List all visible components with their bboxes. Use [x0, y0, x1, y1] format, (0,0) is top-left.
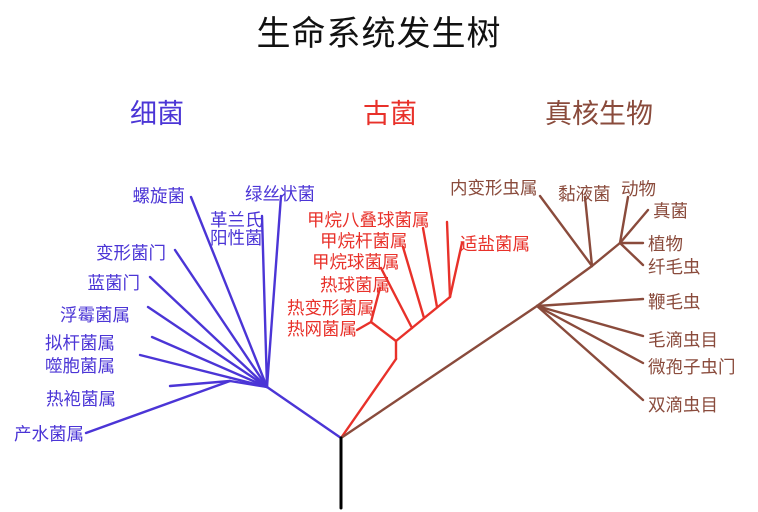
eukaryota-taxon-label: 纤毛虫: [648, 259, 701, 278]
bacteria-taxon-label: 产水菌属: [14, 426, 84, 445]
branch-gelanshi: [262, 216, 267, 387]
domain-heading-archaea: 古菌: [363, 92, 417, 131]
eukaryota-taxon-label: 动物: [621, 181, 656, 200]
eukaryota-taxon-label: 黏液菌: [558, 186, 611, 205]
euk-stem: [341, 306, 537, 438]
branch-bianmao: [537, 299, 643, 306]
domain-heading-eukaryota: 真核生物: [545, 92, 653, 131]
branch-jiawangan: [423, 228, 437, 307]
bacteria-taxon-label: 革兰氏阳性菌: [210, 212, 263, 249]
branch-jiawanqiu: [403, 247, 424, 318]
eukaryota-taxon-label: 毛滴虫目: [648, 332, 718, 351]
bacteria-taxon-label: 蓝菌门: [88, 275, 141, 294]
archaea-taxon-label: 热网菌属: [287, 321, 357, 340]
eukaryota-taxon-label: 鞭毛虫: [648, 294, 701, 313]
branch-rewang: [357, 322, 371, 330]
branch-lanjun: [150, 277, 267, 387]
branch-jiawanbadie: [447, 222, 450, 297]
bacteria-taxon-label: 拟杆菌属: [45, 335, 115, 354]
archaea-taxon-label: 热变形菌属: [287, 300, 375, 319]
archaea-taxon-label: 甲烷球菌属: [312, 254, 400, 273]
eukaryota-taxon-label: 内变形虫属: [450, 180, 538, 199]
bacteria-taxon-label: 噬胞菌属: [45, 358, 115, 377]
eukaryota-taxon-label: 双滴虫目: [648, 397, 718, 416]
euk-upper-stem: [537, 266, 592, 306]
euk-crown-stem: [592, 243, 620, 266]
archaea-stem: [341, 359, 396, 438]
domain-heading-bacteria: 细菌: [130, 92, 184, 131]
archaea-taxon-label: 甲烷杆菌属: [320, 233, 408, 252]
branch-nianye: [585, 197, 592, 266]
bacteria-taxon-label: 热袍菌属: [46, 391, 116, 410]
branch-lvsizhuang: [267, 196, 281, 387]
bacteria-taxon-label: 绿丝状菌: [245, 186, 315, 205]
branch-crenarch: [371, 322, 396, 341]
eukaryota-taxon-label: 植物: [648, 236, 683, 255]
branch-xianmao: [620, 243, 643, 265]
archaea-taxon-label: 适盐菌属: [460, 236, 530, 255]
archaea-taxon-label: 热球菌属: [320, 277, 390, 296]
archaea-taxon-label: 甲烷八叠球菌属: [307, 212, 430, 231]
bacteria-taxon-label: 变形菌门: [96, 245, 166, 264]
eukaryota-taxon-label: 微孢子虫门: [648, 359, 736, 378]
bacteria-taxon-label: 螺旋菌: [133, 188, 186, 207]
bacteria-taxon-label: 浮霉菌属: [60, 307, 130, 326]
branch-fumei: [148, 307, 267, 387]
eukaryota-taxon-label: 真菌: [653, 203, 688, 222]
branch-eury-spine: [396, 297, 450, 341]
bacteria-stem: [267, 387, 341, 438]
branch-neibianxing: [540, 196, 592, 266]
